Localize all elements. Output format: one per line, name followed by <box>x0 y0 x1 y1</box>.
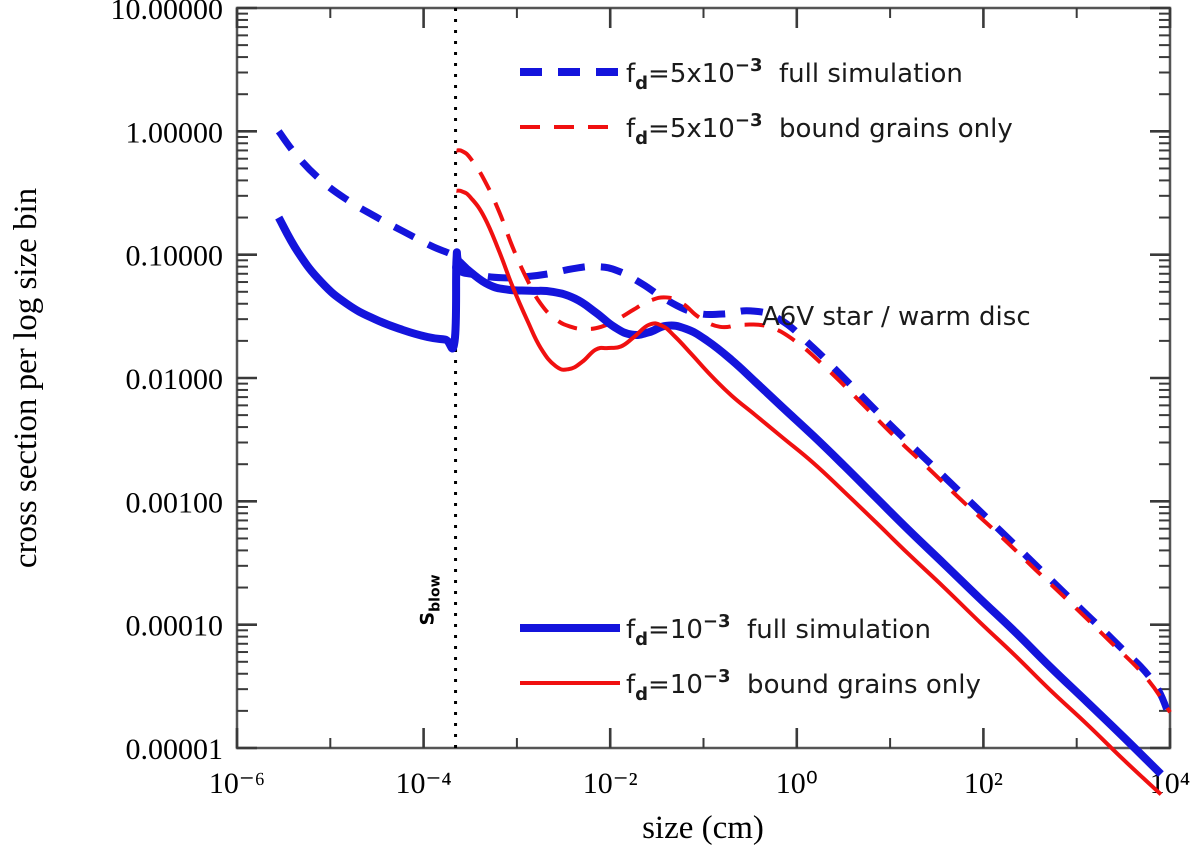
y-tick-label: 0.00100 <box>126 486 224 519</box>
disc-annotation: A6V star / warm disc <box>762 302 1031 332</box>
y-tick-label: 0.01000 <box>126 363 224 396</box>
legend-label-fd1e3_full: fd=10−3 full simulation <box>626 611 931 650</box>
svg-text:10⁻⁴: 10⁻⁴ <box>395 767 451 800</box>
x-tick-label: 10⁻⁶ <box>209 767 265 800</box>
legend-label-fd5e3_full: fd=5x10−3 full simulation <box>626 55 963 94</box>
chart-figure: 10.000001.000000.100000.010000.001000.00… <box>0 0 1200 861</box>
cross-section-size-distribution-plot: 10.000001.000000.100000.010000.001000.00… <box>0 0 1200 861</box>
x-tick-label: 10² <box>964 767 1003 800</box>
x-tick-label: 10⁻⁴ <box>395 767 451 800</box>
y-tick-label: 1.00000 <box>126 116 224 149</box>
svg-text:10⁻²: 10⁻² <box>583 767 638 800</box>
x-tick-label: 10⁻² <box>583 767 638 800</box>
svg-text:10⁻⁶: 10⁻⁶ <box>209 767 265 800</box>
legend-label-fd1e3_bound: fd=10−3 bound grains only <box>626 666 981 705</box>
y-tick-label: 0.10000 <box>126 240 224 273</box>
svg-text:10⁰: 10⁰ <box>776 767 818 800</box>
x-axis-title: size (cm) <box>642 810 764 846</box>
legend-label-fd5e3_bound: fd=5x10−3 bound grains only <box>626 110 1013 149</box>
y-tick-label: 0.00001 <box>126 733 224 766</box>
y-tick-label: 10.00000 <box>111 0 224 26</box>
y-tick-label: 0.00010 <box>126 610 224 643</box>
x-tick-label: 10⁰ <box>776 767 818 800</box>
y-axis-title: cross section per log size bin <box>8 188 44 568</box>
svg-text:10²: 10² <box>964 767 1003 800</box>
